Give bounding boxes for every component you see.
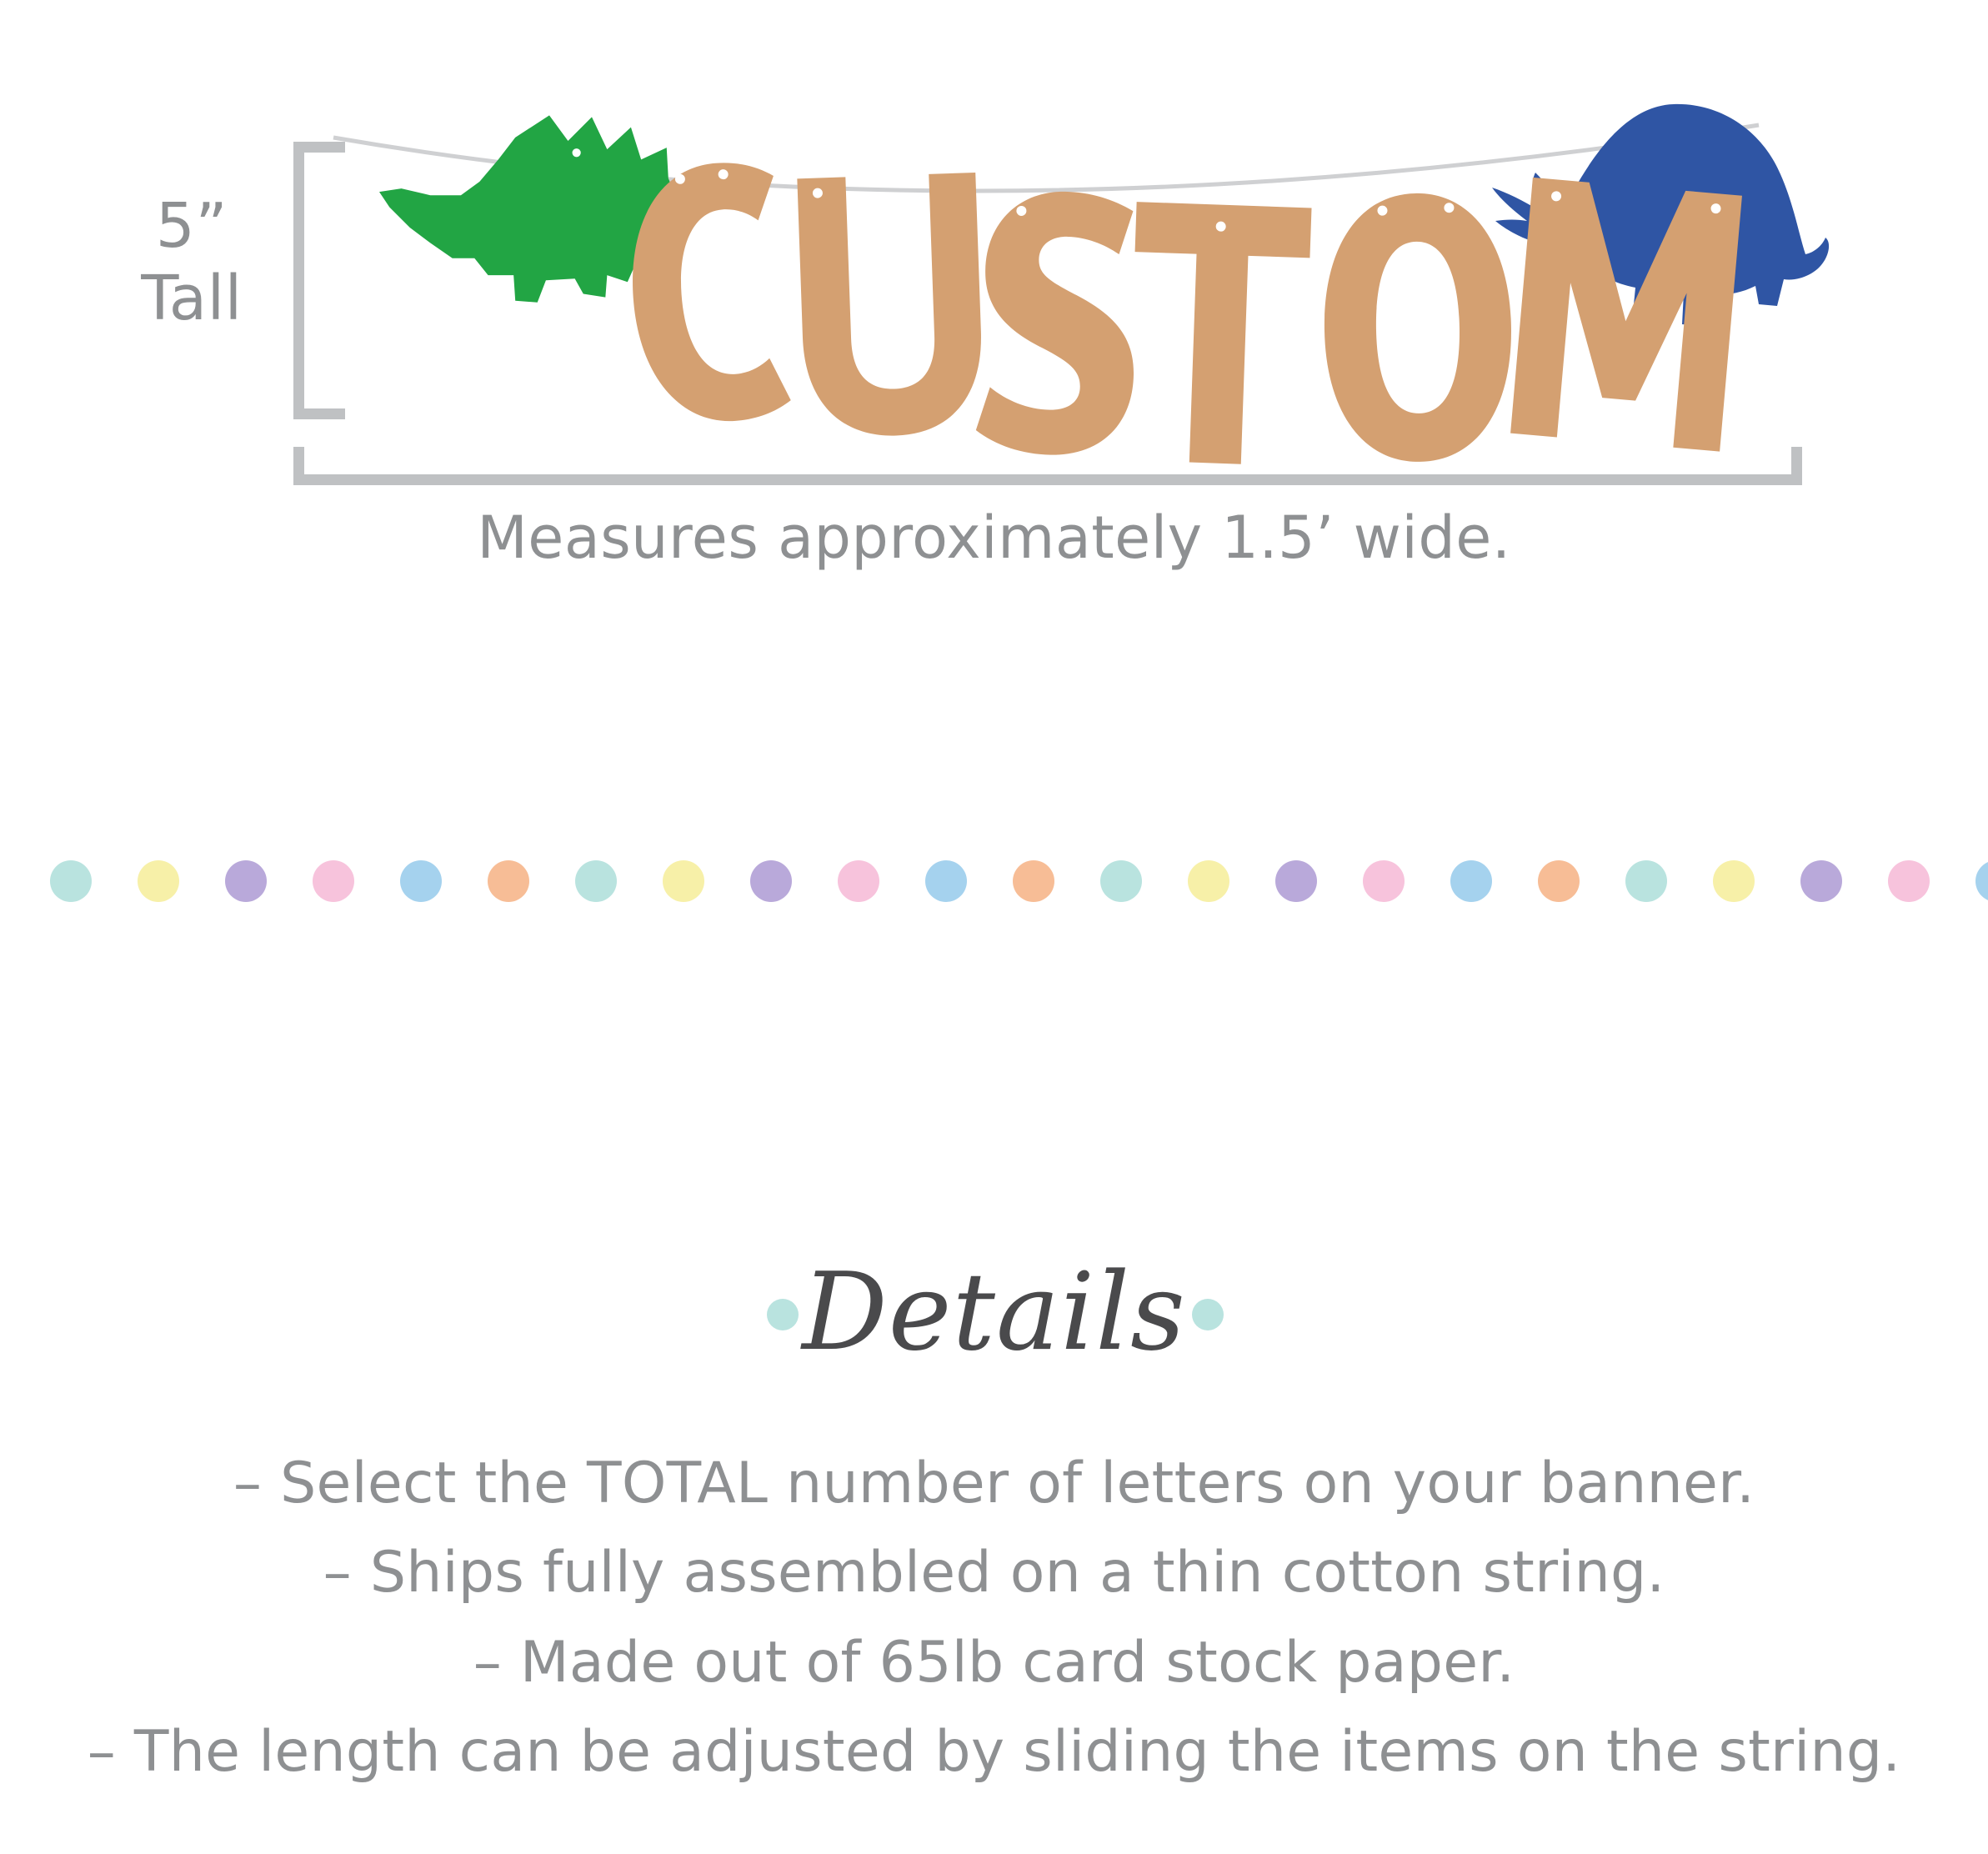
divider-dot — [313, 860, 354, 902]
divider-dot — [488, 860, 529, 902]
details-accent-dot-right — [1192, 1299, 1224, 1330]
details-bullet-list: – Select the TOTAL number of letters on … — [0, 1439, 1988, 1797]
details-heading-block: Details — [0, 1250, 1988, 1417]
divider-dot — [1363, 860, 1405, 902]
divider-dot — [925, 860, 967, 902]
product-info-graphic: 5” Tall — [0, 0, 1988, 1854]
divider-dot — [1713, 860, 1755, 902]
divider-dot — [838, 860, 879, 902]
divider-dot — [1275, 860, 1317, 902]
width-measurement-caption: Measures approximately 1.5’ wide. — [0, 504, 1988, 572]
details-bullet-line: – Select the TOTAL number of letters on … — [0, 1439, 1988, 1528]
divider-dot — [575, 860, 617, 902]
divider-dot — [1100, 860, 1142, 902]
details-bullet-line: – The length can be adjusted by sliding … — [0, 1707, 1988, 1796]
banner-letter-S — [975, 190, 1136, 456]
divider-dot — [400, 860, 442, 902]
divider-dot — [1538, 860, 1580, 902]
details-heading: Details — [0, 1250, 1988, 1375]
divider-dot — [225, 860, 267, 902]
divider-dot — [1975, 860, 1988, 902]
details-bullet-line: – Ships fully assembled on a thin cotton… — [0, 1528, 1988, 1617]
banner-letter-T — [1128, 202, 1312, 466]
divider-dot — [1888, 860, 1930, 902]
divider-dot — [1188, 860, 1229, 902]
divider-dot — [1800, 860, 1842, 902]
dot-divider — [0, 860, 1988, 907]
divider-dot — [1450, 860, 1492, 902]
divider-dot — [1625, 860, 1667, 902]
divider-dot — [663, 860, 704, 902]
banner-letter-U — [797, 173, 984, 438]
divider-dot — [50, 860, 92, 902]
divider-dot — [138, 860, 179, 902]
banner-letters — [624, 159, 1742, 466]
banner-letter-O — [1322, 192, 1514, 463]
divider-dot — [1013, 860, 1054, 902]
divider-dot — [750, 860, 792, 902]
details-bullet-line: – Made out of 65lb card stock paper. — [0, 1618, 1988, 1707]
banner-illustration — [0, 0, 1988, 534]
